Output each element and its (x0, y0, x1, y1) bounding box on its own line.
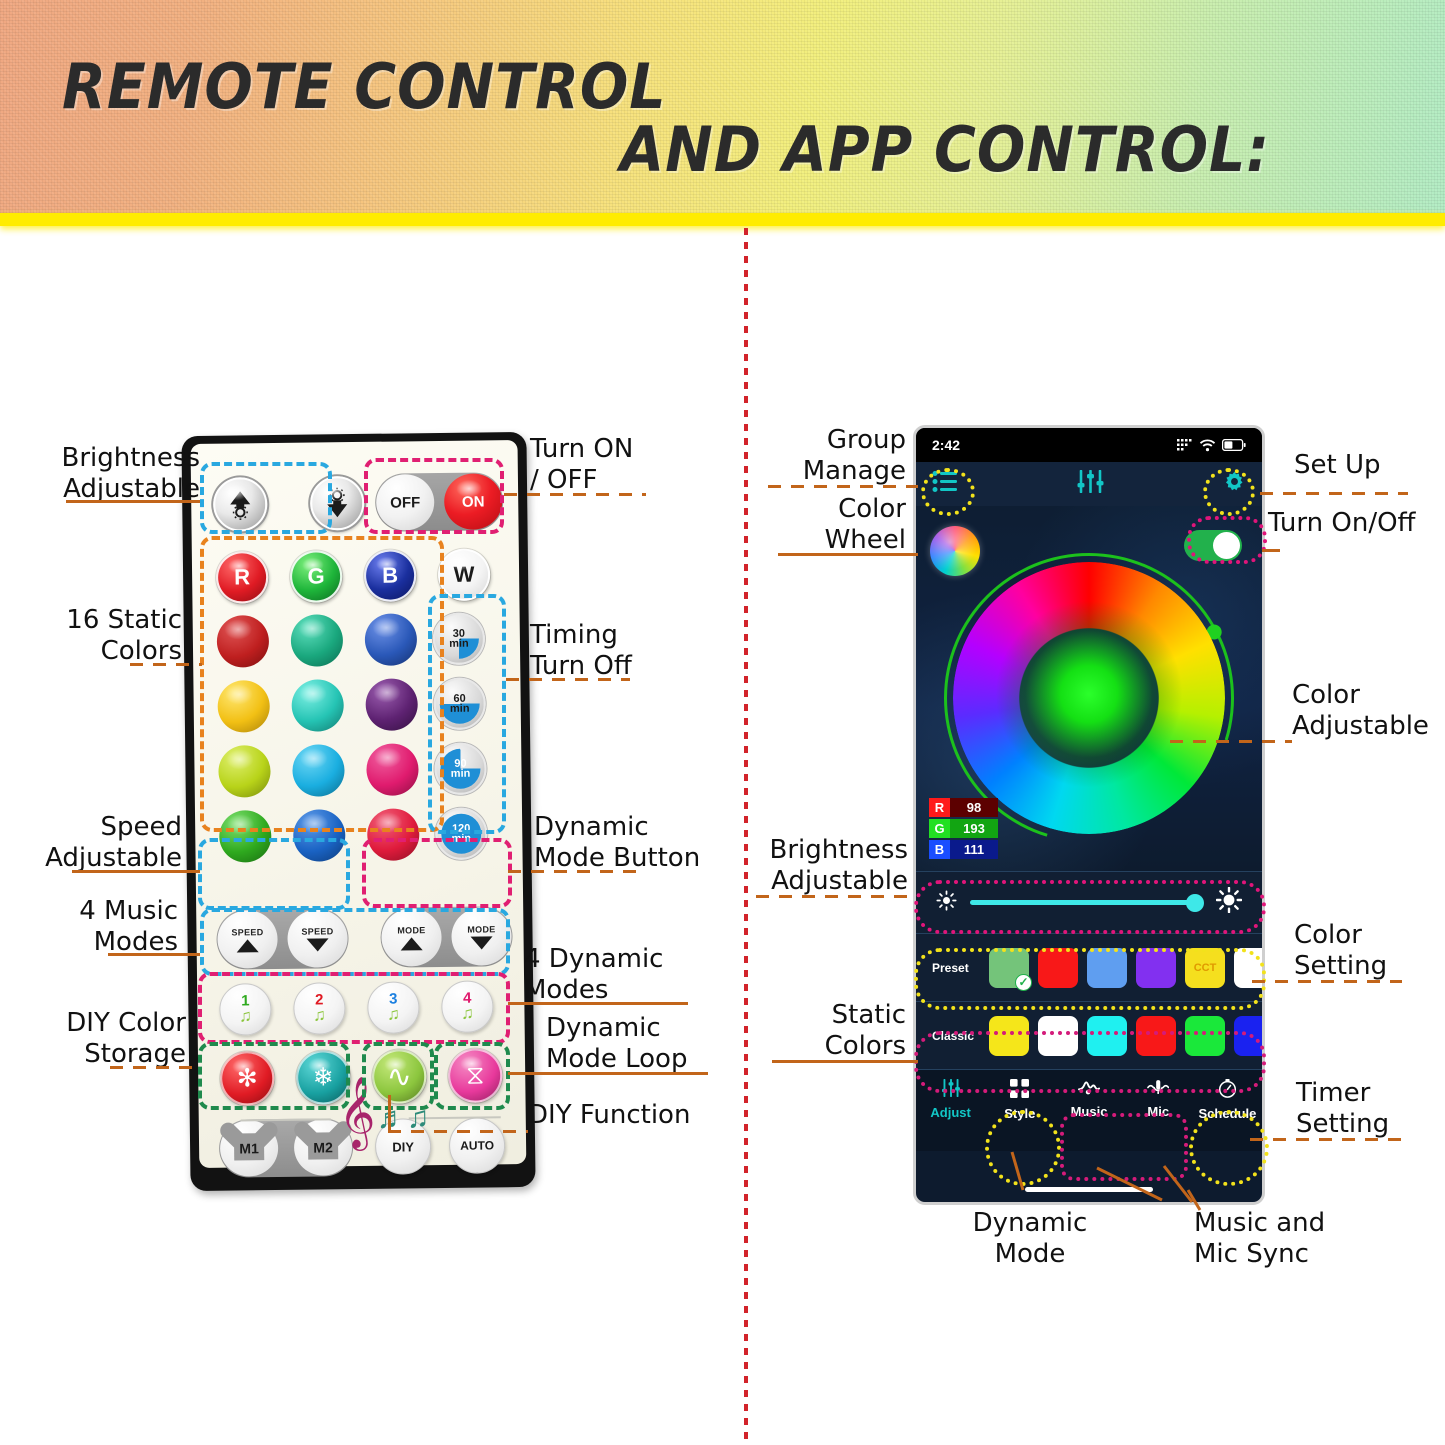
annotation-set-up: Set Up (1294, 450, 1445, 481)
annotation-music-mic-sync: Music and Mic Sync (1194, 1208, 1424, 1270)
music-mode-3-button[interactable]: 3 ♫ (367, 981, 420, 1034)
status-time: 2:42 (932, 437, 960, 453)
selected-check-icon: ✓ (1015, 974, 1032, 991)
music-mode-row: 1 ♫ 2 ♫ 3 ♫ 4 ♫ (219, 980, 494, 1035)
brightness-slider-knob[interactable] (1186, 894, 1204, 912)
annotation-timer-setting: Timer Setting (1296, 1078, 1445, 1140)
color-swatch[interactable] (367, 808, 420, 861)
settings-gear-icon[interactable] (1223, 470, 1246, 498)
timer-label: 60 min (450, 694, 470, 714)
header-yellow-rule (0, 213, 1445, 226)
brightness-slider-row (916, 871, 1262, 933)
remote-faceplate: OFF ON R G B W (190, 440, 526, 1168)
brightness-button-group (213, 476, 365, 532)
classic-swatch[interactable] (989, 1016, 1029, 1056)
music-note-icon: ♫ (313, 1007, 326, 1023)
memory-button-pad: M1 M2 (219, 1118, 354, 1178)
nav-item-mic[interactable]: Mic (1124, 1079, 1193, 1119)
nav-item-adjust[interactable]: Adjust (916, 1079, 985, 1120)
preset-swatch[interactable] (1136, 948, 1176, 988)
on-button[interactable]: ON (444, 473, 503, 530)
rgb-red-key: R (929, 798, 950, 817)
power-button-pad: OFF ON (375, 472, 504, 532)
rgb-green-key: G (929, 819, 950, 838)
timer-unit: min (449, 638, 469, 650)
rgb-readout: R 98 G 193 B 111 (929, 798, 998, 861)
phone-device: 2:42 R (913, 425, 1265, 1205)
color-wheel-area: R 98 G 193 B 111 (916, 506, 1262, 871)
preset-label: Preset (932, 961, 980, 975)
power-toggle-switch[interactable] (1184, 530, 1242, 561)
music-mode-2-button[interactable]: 2 ♫ (293, 982, 346, 1035)
m1-button[interactable]: M1 (220, 1120, 279, 1177)
timer-button-column: 30 min 60 min 90 min (433, 612, 488, 860)
annotation-4-music-modes: 4 Music Modes (0, 896, 178, 958)
timer-unit: min (451, 768, 471, 780)
blue-button[interactable]: B (364, 549, 417, 602)
annotation-color-wheel: Color Wheel (756, 494, 906, 556)
mode-down-button[interactable]: MODE (451, 907, 512, 966)
wheel-center-glow (991, 600, 1187, 796)
annotation-color-setting: Color Setting (1294, 920, 1445, 982)
classic-label: Classic (932, 1029, 980, 1043)
triangle-up-icon (237, 939, 259, 952)
status-bar: 2:42 (916, 428, 1262, 462)
preset-swatch[interactable]: ✓ (989, 948, 1029, 988)
speed-down-label: SPEED (301, 926, 333, 936)
triangle-down-icon (307, 938, 329, 951)
music-note-icon: ♫ (387, 1007, 400, 1023)
nav-item-schedule[interactable]: Schedule (1193, 1079, 1262, 1121)
spiral-icon[interactable]: ⧖ (448, 1048, 503, 1103)
nav-label: Music (1071, 1104, 1108, 1119)
mode-up-button[interactable]: MODE (381, 908, 442, 967)
toggle-knob (1213, 532, 1240, 559)
timer-icon (1218, 1079, 1237, 1103)
color-swatch[interactable] (365, 678, 418, 731)
signal-icon (1177, 439, 1193, 451)
classic-swatch[interactable] (1185, 1016, 1225, 1056)
speed-button-pad: SPEED SPEED (216, 908, 349, 970)
annotation-group-manage: Group Manage (756, 425, 906, 487)
flash-burst-icon[interactable]: ✻ (220, 1051, 275, 1106)
music-notes-icon: ♬♫ (377, 1101, 430, 1136)
rgb-red-line: R 98 (929, 798, 998, 817)
preset-swatch[interactable] (1038, 948, 1078, 988)
wave-icon[interactable]: ∿ (372, 1049, 427, 1104)
rgb-red-value: 98 (950, 798, 998, 817)
preset-color-row: Preset ✓ CCT (916, 933, 1262, 1001)
triangle-up-icon (401, 937, 423, 950)
wifi-icon (1199, 439, 1216, 452)
nav-label: Schedule (1199, 1106, 1257, 1121)
nav-label: Style (1004, 1106, 1035, 1121)
annotation-16-static-colors: 16 Static Colors (0, 605, 182, 667)
mode-down-label: MODE (467, 924, 495, 934)
annotation-turn-on-off: Turn ON / OFF (530, 434, 760, 496)
leader-line (1260, 492, 1408, 495)
annotation-dynamic-mode-button: Dynamic Mode Button (534, 812, 774, 874)
red-button[interactable]: R (216, 551, 269, 604)
annotation-diy-function: DIY Function (528, 1100, 778, 1131)
timer-unit: min (450, 703, 470, 715)
music-mode-1-button[interactable]: 1 ♫ (219, 983, 272, 1036)
color-swatch[interactable] (293, 809, 346, 862)
classic-swatch[interactable] (1234, 1016, 1265, 1056)
rgb-blue-line: B 111 (929, 840, 998, 859)
rgb-blue-key: B (929, 840, 950, 859)
off-button[interactable]: OFF (376, 474, 435, 531)
classic-color-row: Classic (916, 1001, 1262, 1069)
timer-label: 30 min (449, 629, 469, 649)
rgbw-button-row: R G B W (216, 548, 491, 603)
color-swatch[interactable] (218, 745, 271, 798)
timer-unit: min (451, 833, 471, 845)
static-color-grid (217, 613, 420, 862)
treble-clef-icon: 𝄞 (338, 1082, 375, 1144)
preset-swatch-cct[interactable]: CCT (1185, 948, 1225, 988)
timer-120min-button[interactable]: 120 min (435, 807, 488, 860)
rgb-green-value: 193 (950, 819, 998, 838)
music-note-icon: ♫ (239, 1008, 252, 1024)
nav-label: Adjust (930, 1105, 970, 1120)
auto-button[interactable]: AUTO (449, 1117, 506, 1174)
annotation-color-adjustable: Color Adjustable (1292, 680, 1445, 742)
annotation-dynamic-mode-loop: Dynamic Mode Loop (546, 1013, 776, 1075)
annotation-4-dynamic-modes: 4 Dynamic Modes (524, 944, 754, 1006)
app-toolbar (916, 462, 1262, 506)
nav-label: Mic (1147, 1104, 1169, 1119)
brightness-low-icon (936, 890, 957, 916)
annotation-brightness-adjustable: Brightness Adjustable (0, 443, 200, 505)
music-note-icon: ♫ (461, 1006, 474, 1022)
nav-item-style[interactable]: Style (985, 1079, 1054, 1121)
color-wheel[interactable] (953, 562, 1225, 834)
annotation-brightness-adjustable-app: Brightness Adjustable (740, 835, 908, 897)
annotation-turn-on-off-app: Turn On/Off (1268, 508, 1445, 539)
classic-swatch[interactable] (1038, 1016, 1078, 1056)
classic-swatch[interactable] (1087, 1016, 1127, 1056)
page-title-line1: REMOTE CONTROL (62, 50, 667, 123)
annotation-diy-color-storage: DIY Color Storage (0, 1008, 186, 1070)
brightness-high-icon (1216, 887, 1242, 918)
timer-90min-button[interactable]: 90 min (434, 742, 487, 795)
music-mode-4-button[interactable]: 4 ♫ (441, 980, 494, 1033)
remote-control-device: OFF ON R G B W (181, 432, 535, 1191)
classic-swatch[interactable] (1136, 1016, 1176, 1056)
rgb-green-line: G 193 (929, 819, 998, 838)
color-swatch[interactable] (291, 614, 344, 667)
green-button[interactable]: G (290, 550, 343, 603)
speed-up-label: SPEED (231, 927, 263, 937)
annotation-static-colors-app: Static Colors (756, 1000, 906, 1062)
page-title-line2: AND APP CONTROL: (620, 113, 1270, 186)
speed-up-button[interactable]: SPEED (217, 910, 278, 969)
annotation-timing-turn-off: Timing Turn Off (530, 620, 760, 682)
brightness-down-icon[interactable] (310, 476, 365, 531)
brightness-slider[interactable] (970, 900, 1203, 905)
preset-swatch[interactable] (1234, 948, 1265, 988)
color-swatch[interactable] (219, 810, 272, 863)
timer-30min-button[interactable]: 30 min (433, 612, 486, 665)
nav-item-music[interactable]: Music (1054, 1079, 1123, 1119)
m2-label: M2 (313, 1139, 333, 1155)
sliders-icon (941, 1079, 961, 1102)
m1-label: M1 (239, 1140, 259, 1156)
white-button[interactable]: W (438, 548, 491, 601)
rgb-blue-value: 111 (950, 840, 998, 859)
triangle-down-icon (471, 936, 493, 949)
annotation-speed-adjustable: Speed Adjustable (0, 812, 182, 874)
mode-up-label: MODE (397, 925, 425, 935)
color-swatch[interactable] (291, 679, 344, 732)
timer-label: 120 min (451, 824, 471, 844)
color-swatch[interactable] (366, 743, 419, 796)
bottom-navigation-bar: Adjust Style Music Mic Schedule (916, 1069, 1262, 1151)
brightness-up-icon[interactable] (213, 477, 268, 532)
color-swatch[interactable] (292, 744, 345, 797)
music-wave-icon (1078, 1079, 1100, 1101)
group-manage-icon[interactable] (932, 471, 957, 497)
color-swatch[interactable] (217, 615, 270, 668)
status-icons (1177, 439, 1246, 452)
speed-down-button[interactable]: SPEED (287, 909, 348, 968)
mode-button-pad: MODE MODE (380, 906, 513, 968)
microphone-icon (1147, 1079, 1169, 1101)
sliders-icon (1077, 470, 1104, 498)
preset-swatch[interactable] (1087, 948, 1127, 988)
color-swatch[interactable] (217, 680, 270, 733)
header-banner: REMOTE CONTROL AND APP CONTROL: (0, 0, 1445, 213)
timer-60min-button[interactable]: 60 min (433, 677, 486, 730)
color-swatch[interactable] (365, 613, 418, 666)
battery-icon (1222, 439, 1246, 451)
timer-label: 90 min (451, 759, 471, 779)
grid-icon (1010, 1079, 1029, 1103)
